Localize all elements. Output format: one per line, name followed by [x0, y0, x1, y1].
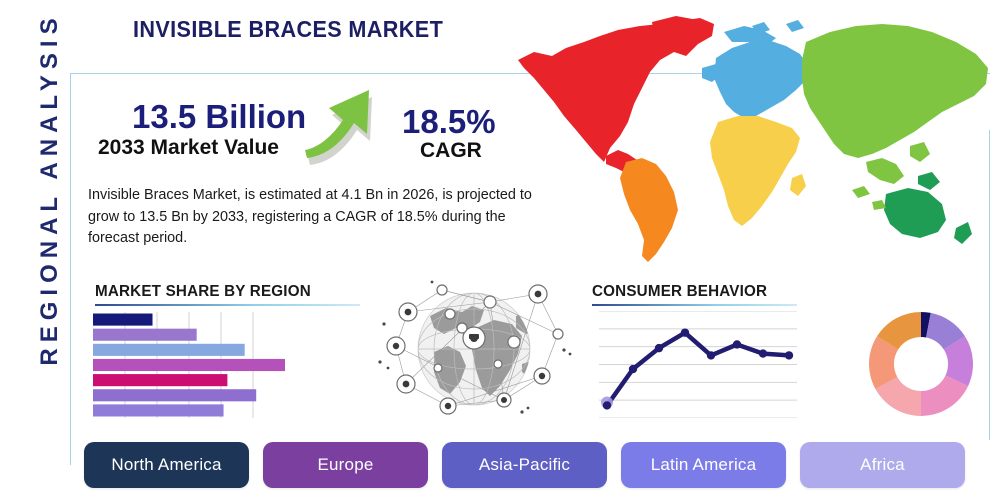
region-tab-label: Latin America — [651, 455, 757, 475]
vertical-section-label: REGIONAL ANALYSIS — [36, 0, 64, 389]
cagr-figure: 18.5% — [402, 103, 496, 141]
region-tab-label: Asia-Pacific — [479, 455, 570, 475]
region-tab-latin-america[interactable]: Latin America — [621, 442, 786, 488]
market-description: Invisible Braces Market, is estimated at… — [88, 185, 558, 250]
growth-arrow-icon — [305, 80, 405, 165]
consumer-behavior-line-chart — [599, 311, 797, 418]
world-map-icon — [500, 12, 1000, 270]
region-tab-north-america[interactable]: North America — [84, 442, 249, 488]
infographic-root: REGIONAL ANALYSIS INVISIBLE BRACES MARKE… — [0, 0, 1000, 500]
market-value-figure: 13.5 Billion — [132, 98, 306, 136]
consumer-behavior-heading: CONSUMER BEHAVIOR — [592, 283, 767, 301]
cagr-label: CAGR — [420, 139, 482, 163]
region-tab-list[interactable]: North America Europe Asia-Pacific Latin … — [84, 442, 965, 488]
region-tab-label: North America — [111, 455, 221, 475]
region-tab-africa[interactable]: Africa — [800, 442, 965, 488]
region-tab-label: Europe — [317, 455, 373, 475]
region-tab-label: Africa — [860, 455, 905, 475]
region-tab-asia-pacific[interactable]: Asia-Pacific — [442, 442, 607, 488]
global-network-globe-icon — [372, 272, 577, 427]
page-title: INVISIBLE BRACES MARKET — [133, 16, 443, 43]
market-share-heading: MARKET SHARE BY REGION — [95, 283, 311, 301]
market-share-bar-chart — [93, 312, 285, 418]
region-tab-europe[interactable]: Europe — [263, 442, 428, 488]
market-value-label: 2033 Market Value — [98, 136, 279, 160]
regional-split-donut-chart — [866, 308, 976, 420]
market-share-heading-rule — [95, 304, 360, 306]
consumer-behavior-heading-rule — [592, 304, 797, 306]
